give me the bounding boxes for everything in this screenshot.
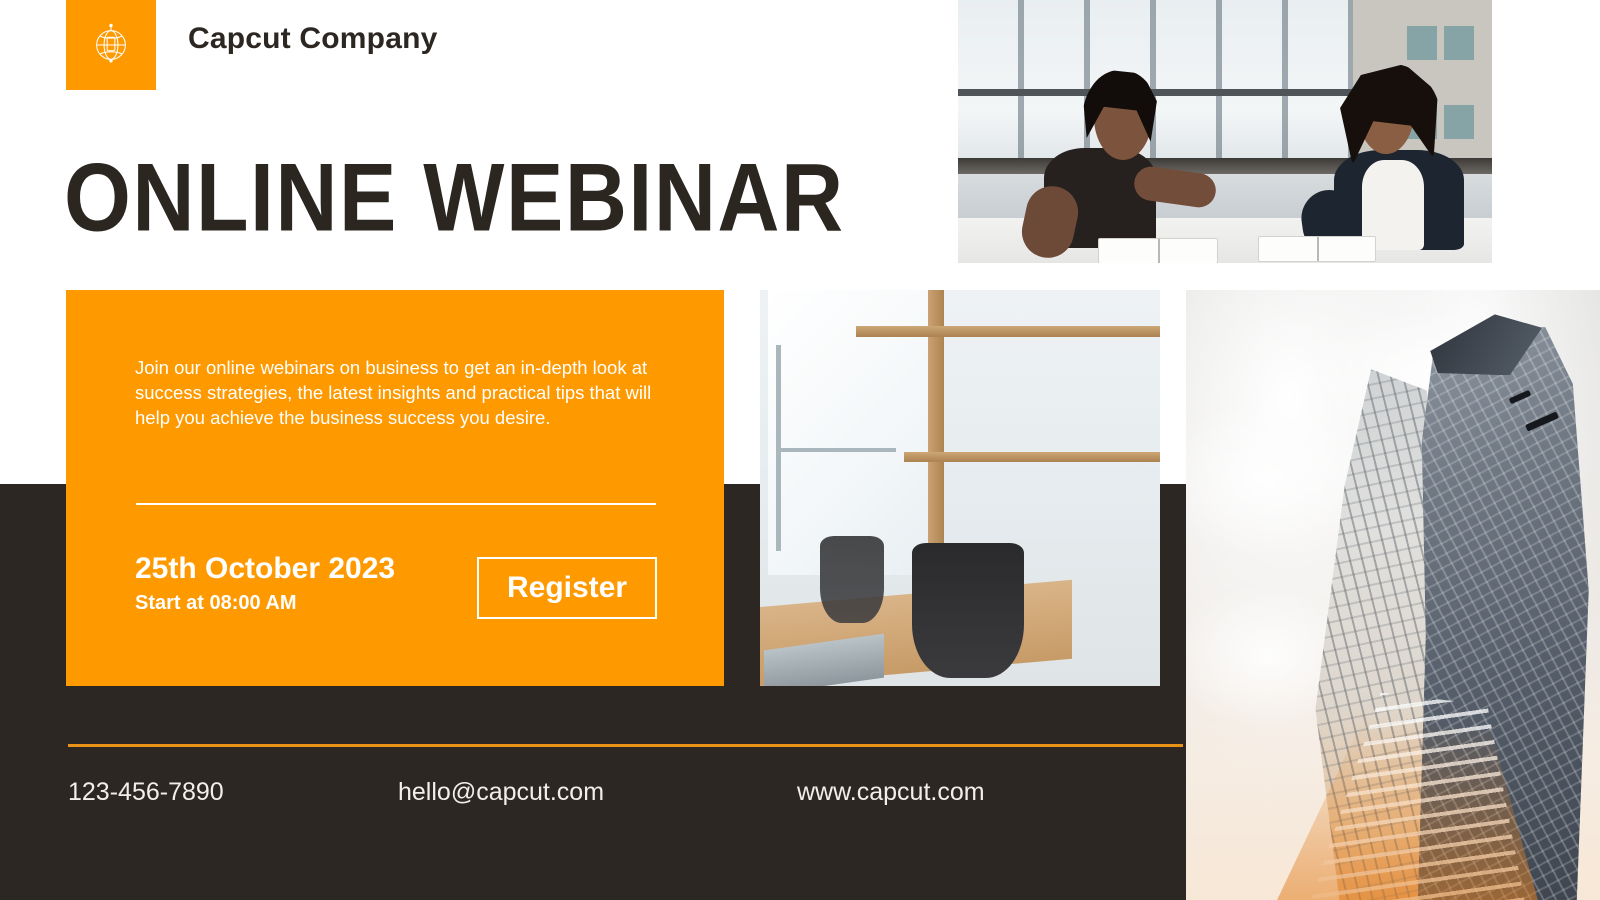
contact-phone[interactable]: 123-456-7890 — [68, 778, 224, 807]
webinar-info-card: Join our online webinars on business to … — [66, 290, 724, 686]
footer-divider — [68, 744, 1183, 747]
exterior-window — [1444, 26, 1474, 60]
photo-twisting-glass-skyscraper — [1186, 290, 1600, 900]
logo-badge — [66, 0, 156, 90]
webinar-date: 25th October 2023 — [135, 552, 395, 586]
notebook-left — [1098, 238, 1218, 263]
webinar-start-time: Start at 08:00 AM — [135, 592, 297, 615]
notebook-right — [1258, 236, 1376, 262]
contact-email[interactable]: hello@capcut.com — [398, 778, 604, 807]
page-title: ONLINE WEBINAR — [64, 150, 845, 246]
register-button[interactable]: Register — [477, 557, 657, 619]
card-divider — [136, 503, 656, 505]
webinar-poster: Capcut Company ONLINE WEBINAR Join our o… — [0, 0, 1600, 900]
globe-wireframe-icon — [88, 22, 134, 68]
company-name: Capcut Company — [188, 22, 438, 56]
photo-office-team-collaboration — [760, 290, 1160, 686]
window-frame — [776, 448, 896, 452]
exterior-window — [1407, 26, 1437, 60]
webinar-description: Join our online webinars on business to … — [135, 355, 665, 430]
wooden-beam — [856, 326, 1160, 337]
wooden-beam — [904, 452, 1160, 462]
exterior-window — [1444, 105, 1474, 139]
office-chair — [912, 543, 1024, 678]
office-chair — [820, 536, 884, 623]
tower-structure — [1236, 290, 1600, 900]
photo-two-businesswomen-meeting — [958, 0, 1492, 263]
contact-website[interactable]: www.capcut.com — [797, 778, 985, 807]
